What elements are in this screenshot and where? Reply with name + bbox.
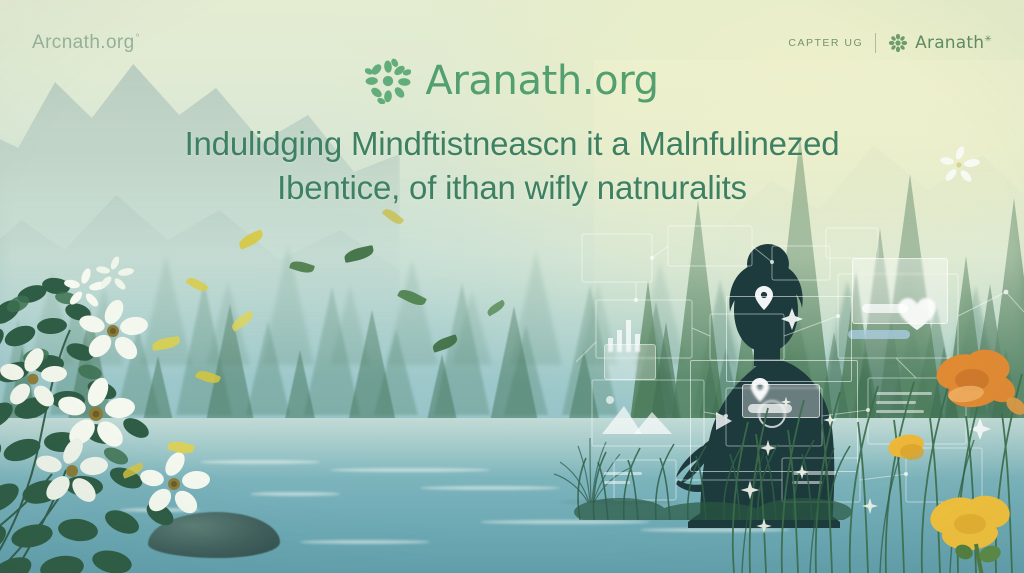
left-shrub-foliage [0, 250, 300, 573]
yellow-poppy-flower [918, 486, 1024, 573]
brand-superscript-small: ✳ [984, 34, 992, 44]
hud-card-left [604, 344, 656, 380]
water-ripple [330, 468, 490, 472]
site-watermark: Arcnath.org ° [32, 32, 140, 54]
headline-line-2: Ibentice, of ithan wifly natnuralits [185, 166, 840, 210]
water-ripple [300, 540, 430, 544]
hero-wordmark: Aranath.org [425, 58, 658, 104]
brand-logo-small: Aranath✳ [888, 33, 992, 53]
hero-banner: Arcnath.org ° CAPTER UG [0, 0, 1024, 573]
headline-line-1: Indulidging Mindftistneascn it a Malnful… [185, 125, 840, 162]
lockup-divider [875, 33, 876, 53]
watermark-superscript: ° [136, 34, 140, 44]
white-blossom [36, 438, 110, 506]
hero-headline: Indulidging Mindftistneascn it a Malnful… [185, 122, 840, 210]
partner-label: CAPTER UG [788, 37, 863, 49]
white-blossom [140, 452, 210, 516]
hero-content: Aranath.org Indulidging Mindftistneascn … [0, 58, 1024, 232]
brand-name-small: Aranath✳ [915, 33, 992, 53]
leaf-rosette-icon [365, 58, 411, 104]
floral-rosette-icon [888, 33, 908, 53]
watermark-text: Arcnath.org [32, 32, 135, 54]
yellow-bud [884, 430, 930, 464]
hero-logo-lockup: Aranath.org [365, 58, 658, 104]
hud-pill-label [862, 304, 908, 313]
hud-card-heart [852, 258, 948, 324]
orange-poppy-flower [930, 336, 1024, 424]
partner-brand-lockup: CAPTER UG Aranath✳ [788, 33, 992, 53]
white-star-flower [96, 256, 134, 290]
